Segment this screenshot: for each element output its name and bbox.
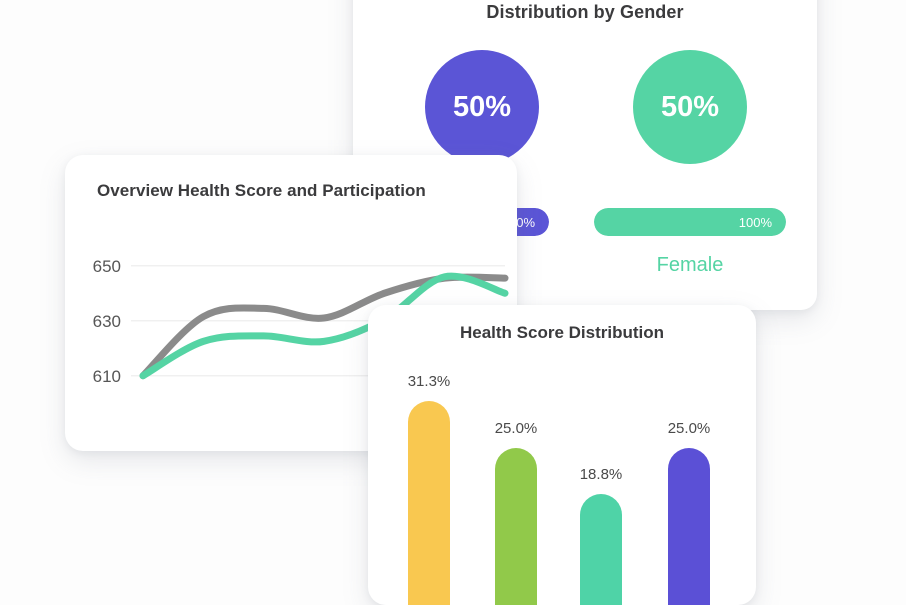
gender-label-female: Female xyxy=(594,254,786,277)
gender-bubble-male-value: 50% xyxy=(453,91,511,124)
gender-card-title: Distribution by Gender xyxy=(353,2,817,23)
bar-value-label: 25.0% xyxy=(644,420,734,437)
gender-bubble-male[interactable]: 50% xyxy=(425,50,539,164)
line-chart-ytick-label: 630 xyxy=(93,312,121,331)
gender-progress-track-female[interactable]: 100% xyxy=(594,208,786,236)
bar-column[interactable]: 25.0% xyxy=(495,305,537,605)
gender-bubble-female-value: 50% xyxy=(661,91,719,124)
bar-rect[interactable] xyxy=(495,448,537,605)
gender-bubble-female[interactable]: 50% xyxy=(633,50,747,164)
health-score-distribution-card: Health Score Distribution 31.3%25.0%18.8… xyxy=(368,305,756,605)
bar-column[interactable]: 25.0% xyxy=(668,305,710,605)
line-chart-ytick-label: 610 xyxy=(93,367,121,386)
bar-rect[interactable] xyxy=(668,448,710,605)
bar-chart-area: 31.3%25.0%18.8%25.0% xyxy=(368,305,756,605)
bar-column[interactable]: 18.8% xyxy=(580,305,622,605)
dashboard-stage: Distribution by Gender 50% 50% 100% 100%… xyxy=(0,0,906,572)
bar-value-label: 31.3% xyxy=(384,373,474,390)
line-chart-ytick-labels: 650630610 xyxy=(93,257,121,386)
gender-progress-fill-female: 100% xyxy=(594,208,786,236)
gender-progress-female-value: 100% xyxy=(739,215,772,230)
line-chart-ytick-label: 650 xyxy=(93,257,121,276)
bar-value-label: 25.0% xyxy=(471,420,561,437)
bar-rect[interactable] xyxy=(408,401,450,605)
bar-column[interactable]: 31.3% xyxy=(408,305,450,605)
bar-value-label: 18.8% xyxy=(556,466,646,483)
bar-rect[interactable] xyxy=(580,494,622,605)
